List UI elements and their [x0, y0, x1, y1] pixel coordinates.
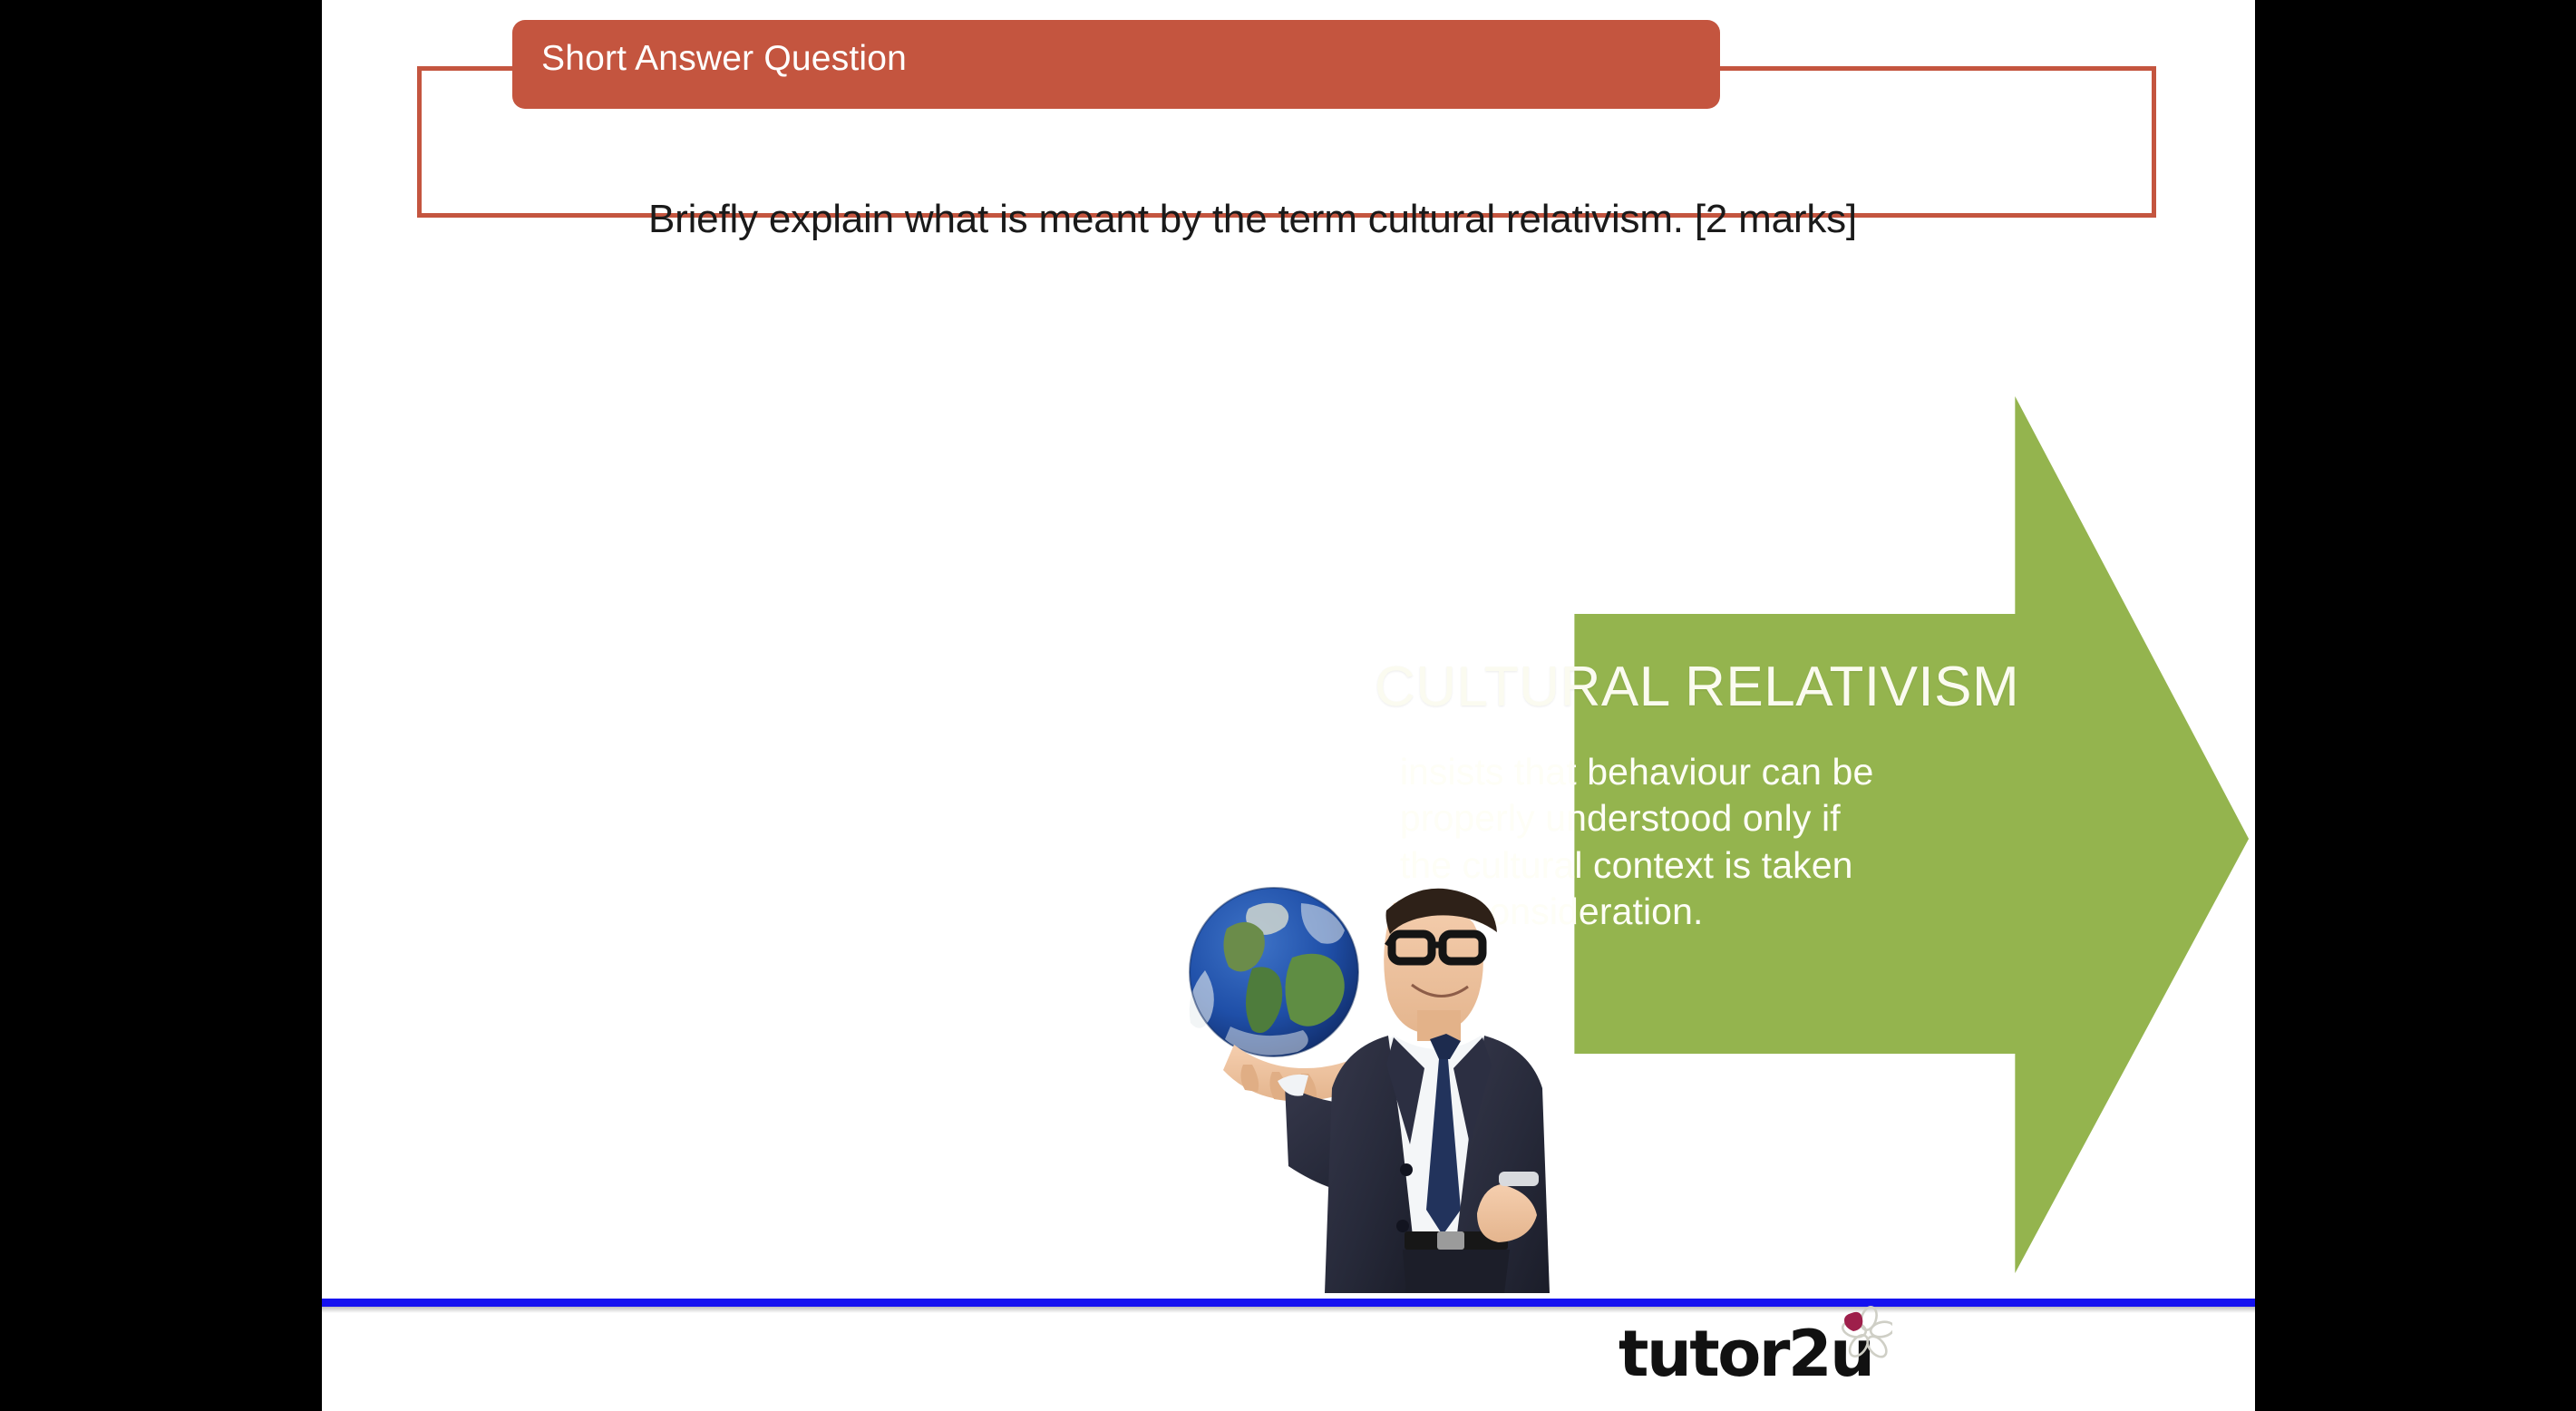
businessman-globe-illustration [1165, 871, 1709, 1293]
arrow-title: CULTURAL RELATIVISM [1375, 655, 2019, 719]
screenshot-root: Briefly explain what is meant by the ter… [0, 0, 2576, 1411]
flower-icon [1832, 1306, 1892, 1366]
footer-rule-shadow [322, 1307, 2255, 1313]
square-bullet-icon: ▪ [1374, 764, 1381, 784]
question-card-header: Short Answer Question [512, 20, 1720, 109]
businessman-holding-globe-image [1165, 871, 1709, 1293]
question-card-header-label: Short Answer Question [541, 39, 907, 79]
question-text: Briefly explain what is meant by the ter… [648, 197, 1857, 242]
earth-globe-icon [1190, 888, 1358, 1056]
wristwatch-icon [1499, 1172, 1539, 1186]
footer-blue-rule [322, 1299, 2255, 1307]
presentation-slide: Briefly explain what is meant by the ter… [322, 0, 2255, 1411]
trousers [1403, 1250, 1510, 1293]
tutor2u-logo[interactable]: tutor2u [1619, 1317, 1891, 1395]
